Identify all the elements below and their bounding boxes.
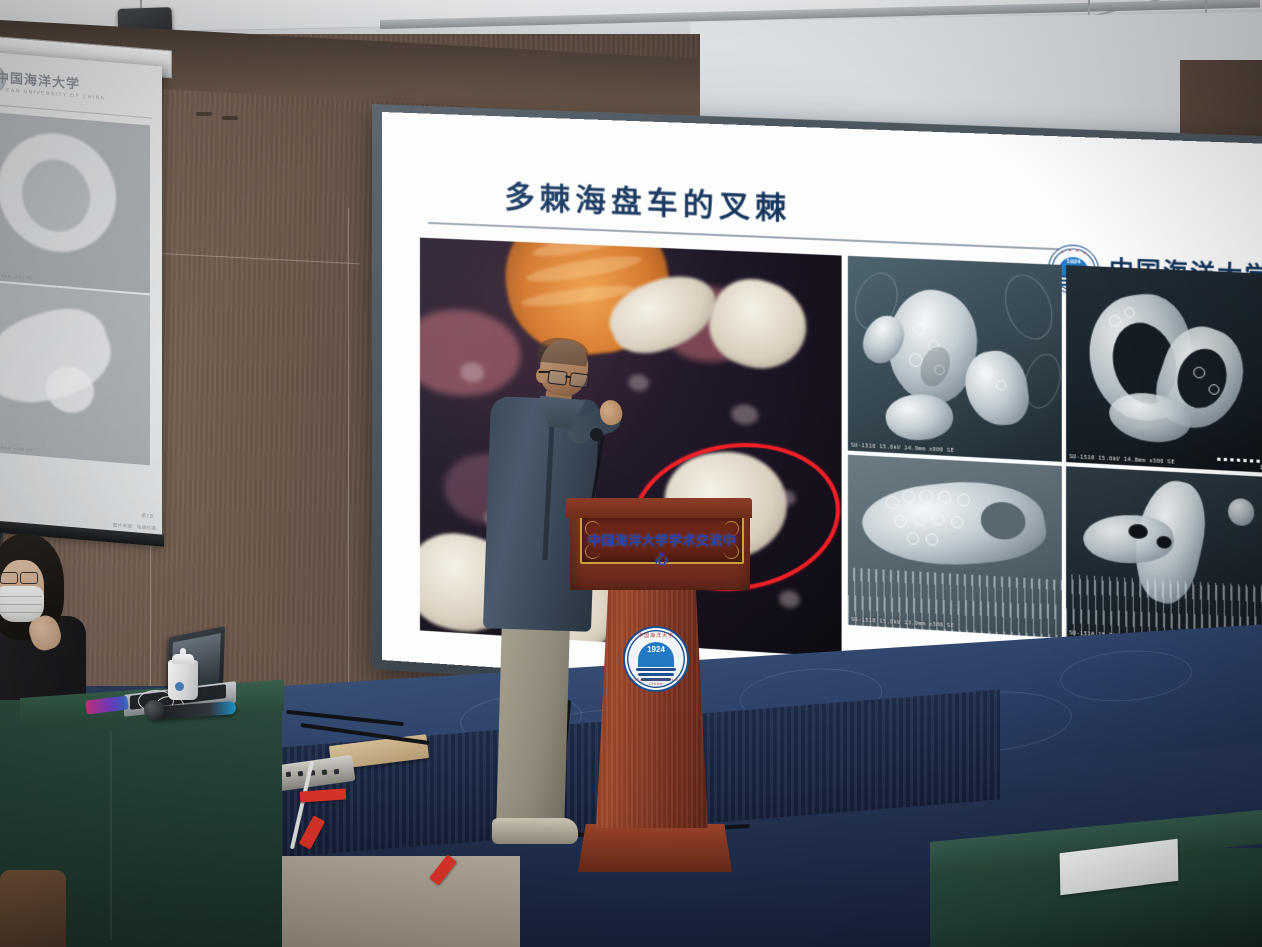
seal-english-text: OCEAN UNIVERSITY OF CHINA (625, 678, 687, 686)
wall-vent-slot (222, 116, 238, 120)
tablecloth-fold (110, 730, 112, 940)
sem-substrate-texture (848, 567, 1062, 638)
mug-knob (180, 648, 186, 656)
slide-title: 多棘海盘车的叉棘 (504, 172, 791, 228)
wooden-chair (0, 870, 66, 947)
sem-label-top-left: SU-1510 15.0kV 14.9mm x900 SE (851, 443, 954, 455)
sem-label-top-right: SU-1510 15.0kV 14.8mm x300 SE (1069, 454, 1174, 466)
sem-panel-top-left: SU-1510 15.0kV 14.9mm x900 SE (848, 256, 1062, 462)
conference-hall-photo: 中国海洋大学 OCEAN UNIVERSITY OF CHINA SU-1510… (0, 0, 1262, 947)
sem-panel-bottom-right: SU-1510 15.0kV 14.4mm x500 SE (1066, 466, 1262, 651)
projected-page-label: 第7页 (142, 513, 154, 520)
presenter-shoe (540, 800, 598, 822)
projection-screen: 中国海洋大学 OCEAN UNIVERSITY OF CHINA SU-1510… (0, 52, 162, 546)
sem-panel-bottom-left: SU-1510 15.0kV 13.9mm x300 SE (848, 455, 1062, 638)
mug-logo-icon (175, 682, 184, 691)
projected-sem-lower: SU-1510 15.0kV 13.9mm x300 SE (0, 279, 150, 466)
lectern-university-seal-icon: 中国海洋大学 1924 OCEAN UNIVERSITY OF CHINA (623, 626, 689, 692)
lectern-seal-year: 1924 (625, 645, 687, 654)
sem-panel-top-right: SU-1510 15.0kV 14.8mm x300 SE 100um (1066, 265, 1262, 473)
seal-chinese-text: 中国海洋大学 (625, 632, 687, 639)
ceramic-mug[interactable] (168, 660, 198, 700)
lectern-wood-grain (596, 586, 708, 828)
attendee-glasses-icon (0, 572, 36, 583)
lectern-plaque-text: 中国海洋大学学术交流中心 (582, 530, 742, 568)
wall-vent-slot (196, 112, 212, 116)
lectern-base (578, 824, 732, 872)
lectern-plaque: 中国海洋大学学术交流中心 (580, 516, 744, 564)
sem-scale-bar (1217, 458, 1262, 464)
projected-sem-upper: SU-1510 15.0kV 14.9mm x900 SE (0, 109, 150, 294)
microphone-capsule (590, 428, 603, 441)
lectern-top-edge (566, 498, 752, 518)
